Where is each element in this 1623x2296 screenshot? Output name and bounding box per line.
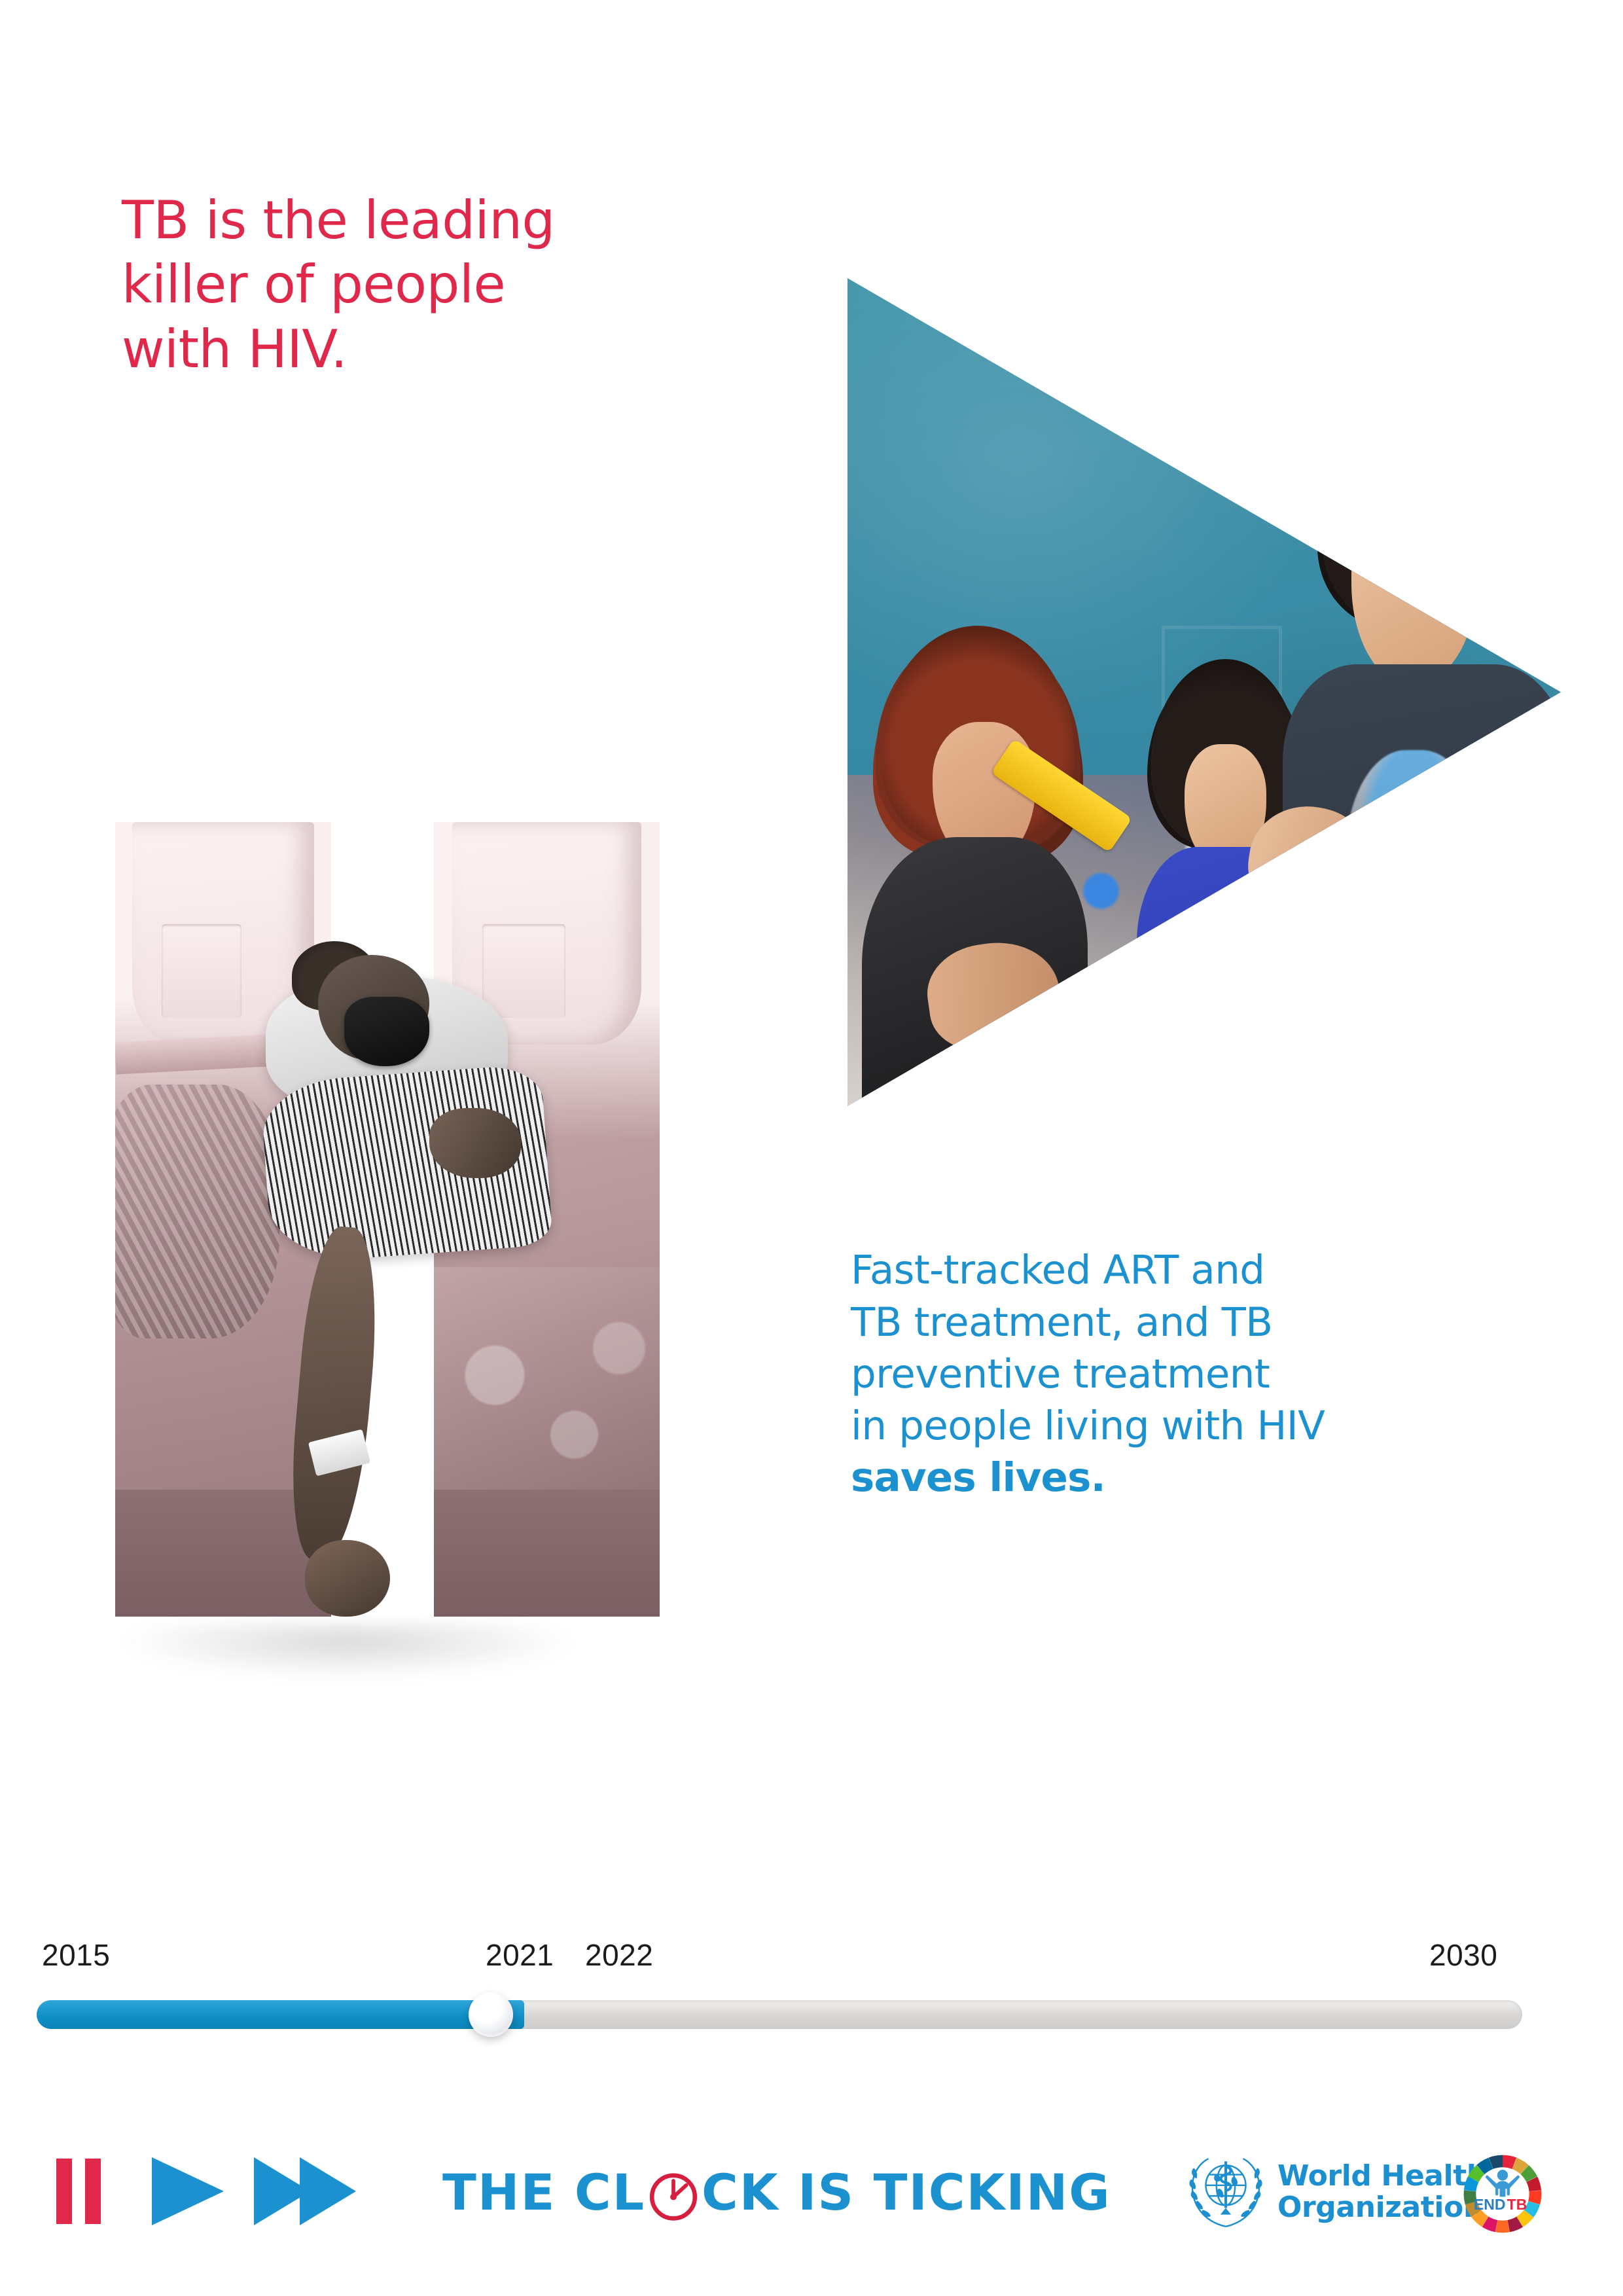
page-headline: TB is the leading killer of people with … <box>122 188 632 382</box>
tagline-text-after: CK IS TICKING <box>702 2163 1111 2221</box>
clock-icon <box>647 2165 700 2219</box>
patient-fist <box>305 1540 390 1617</box>
who-line-2: Organization <box>1277 2191 1484 2224</box>
who-line-1: World Health <box>1277 2159 1487 2193</box>
play-icon[interactable] <box>152 2157 224 2225</box>
campaign-tagline: THE CL CK IS TICKING <box>442 2156 1111 2228</box>
body-copy-emphasis: saves lives. <box>851 1452 1512 1503</box>
patient-hand-on-chest <box>429 1108 521 1177</box>
body-copy-lines: Fast-tracked ART and TB treatment, and T… <box>851 1247 1325 1449</box>
younger-boy-shirt <box>1137 847 1315 1106</box>
end-tb-logo: END TB <box>1459 2151 1546 2237</box>
who-wordmark: World Health Organization <box>1277 2161 1487 2223</box>
footer-bar: THE CL CK IS TICKING <box>0 2140 1623 2271</box>
patient-arm <box>284 1224 385 1563</box>
pause-icon[interactable] <box>56 2159 102 2224</box>
photo-h-ground-shadow <box>0 1623 694 1728</box>
older-boy-shirt <box>1283 664 1561 1105</box>
pause-bar-left <box>56 2159 72 2224</box>
photo-arrow-family <box>847 278 1561 1106</box>
end-tb-word-end: END <box>1474 2196 1506 2213</box>
photo-arrow-older-boy <box>1283 394 1561 1106</box>
timeline-track[interactable] <box>37 2000 1522 2029</box>
timeline-label-current: 2021 <box>486 1937 554 1973</box>
timeline-slider-handle[interactable] <box>469 1992 513 2037</box>
photo-arrow-plate <box>1104 941 1261 999</box>
timeline-label-end: 2030 <box>1429 1937 1497 1973</box>
body-copy: Fast-tracked ART and TB treatment, and T… <box>851 1193 1512 1556</box>
older-boy-face <box>1351 501 1477 686</box>
photo-h-patient <box>115 822 660 1617</box>
timeline-label-next: 2022 <box>585 1937 653 1973</box>
photo-h-patient-figure <box>246 920 573 1617</box>
pause-bar-right <box>85 2159 101 2224</box>
who-emblem-icon <box>1186 2152 1266 2232</box>
who-logo: World Health Organization <box>1186 2152 1487 2232</box>
timeline: 2015 2021 2022 2030 <box>0 1937 1623 2094</box>
photo-arrow-woman <box>862 626 1097 1106</box>
fast-forward-triangle-2 <box>300 2157 356 2225</box>
timeline-labels: 2015 2021 2022 2030 <box>0 1937 1623 1982</box>
timeline-label-start: 2015 <box>42 1937 110 1973</box>
fast-forward-icon[interactable] <box>254 2157 356 2225</box>
end-tb-word-tb: TB <box>1507 2196 1527 2213</box>
older-boy-shirt-graphic <box>1346 750 1482 992</box>
timeline-progress-fill <box>37 2000 524 2029</box>
patient-face-mask <box>344 997 429 1066</box>
tagline-text-before: THE CL <box>442 2163 645 2221</box>
